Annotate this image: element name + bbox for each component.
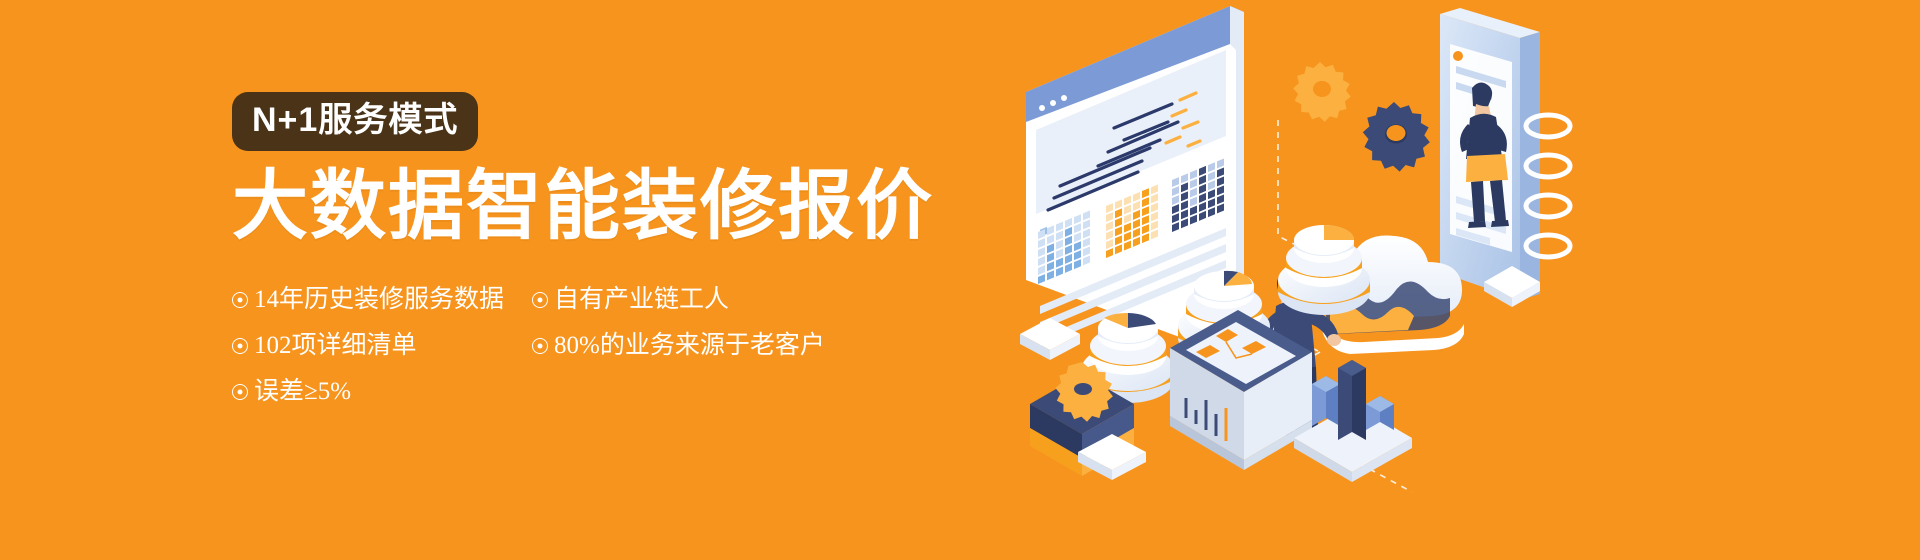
- page-title: 大数据智能装修报价: [232, 167, 952, 247]
- list-item: 102项详细清单: [232, 323, 532, 369]
- service-model-badge: N+1服务模式: [232, 92, 478, 151]
- bullet-column-right: 自有产业链工人 80%的业务来源于老客户: [532, 277, 852, 415]
- circled-dot-icon: [232, 338, 248, 354]
- list-item: 80%的业务来源于老客户: [532, 323, 852, 369]
- list-item: 14年历史装修服务数据: [232, 277, 532, 323]
- circled-dot-icon: [532, 338, 548, 354]
- list-item-label: 误差≥5%: [254, 379, 351, 404]
- bullet-column-left: 14年历史装修服务数据 102项详细清单 误差≥5%: [232, 277, 532, 415]
- list-item: 自有产业链工人: [532, 277, 852, 323]
- circled-dot-icon: [232, 384, 248, 400]
- list-item-label: 自有产业链工人: [554, 287, 729, 312]
- gear-orange: [1293, 62, 1351, 122]
- circled-dot-icon: [232, 292, 248, 308]
- list-item: 误差≥5%: [232, 369, 532, 415]
- banner-copy: N+1服务模式 大数据智能装修报价 14年历史装修服务数据 102项详细清单 误…: [232, 92, 952, 415]
- isometric-big-data-illustration: [1020, 0, 1580, 560]
- list-item-label: 102项详细清单: [254, 333, 417, 358]
- circled-dot-icon: [532, 292, 548, 308]
- tile: [1020, 318, 1080, 360]
- list-item-label: 14年历史装修服务数据: [254, 287, 504, 312]
- promo-banner: N+1服务模式 大数据智能装修报价 14年历史装修服务数据 102项详细清单 误…: [0, 0, 1920, 560]
- list-item-label: 80%的业务来源于老客户: [554, 333, 825, 358]
- gear-navy: [1363, 102, 1430, 172]
- feature-bullet-list: 14年历史装修服务数据 102项详细清单 误差≥5% 自有产业链工人: [232, 277, 872, 415]
